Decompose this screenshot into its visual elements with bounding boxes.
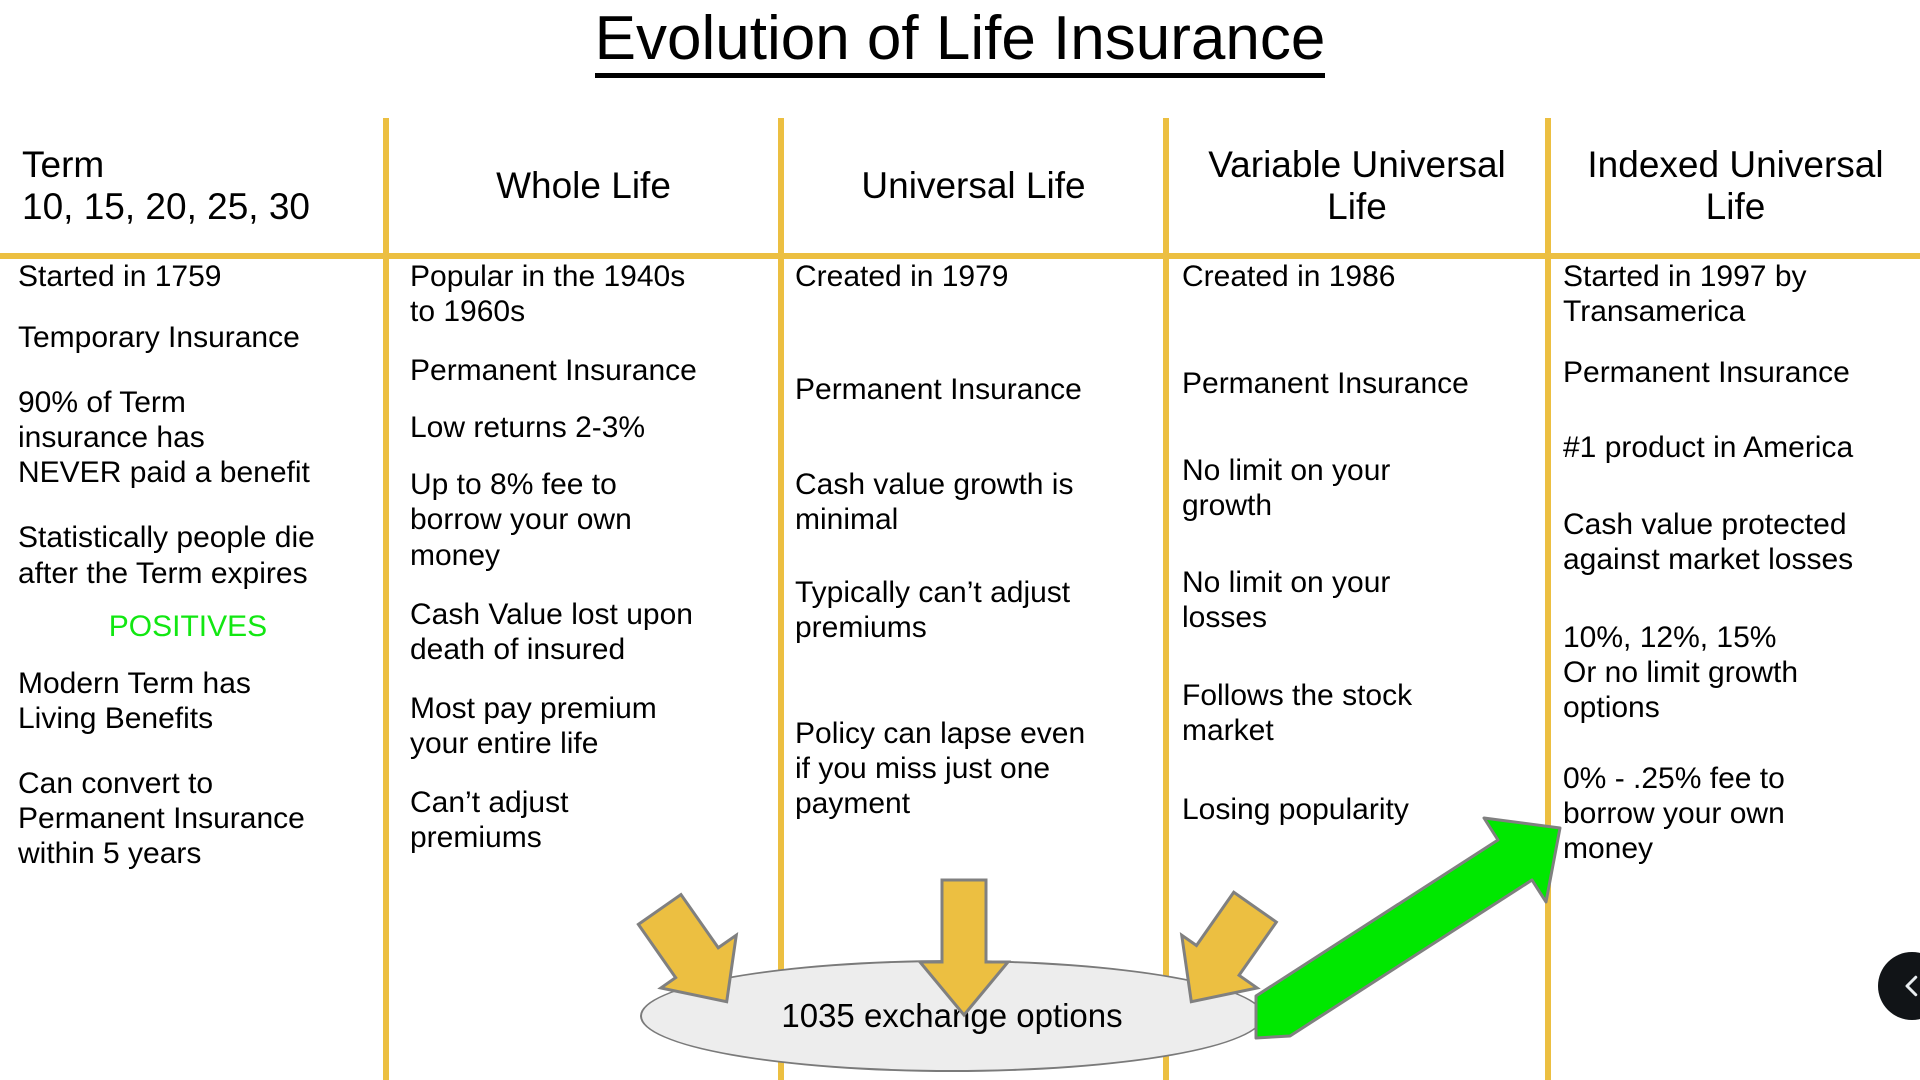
list-item: Statistically people die after the Term … (18, 520, 388, 590)
column-header-term: Term 10, 15, 20, 25, 30 (0, 118, 383, 253)
list-item: Created in 1986 (1182, 259, 1546, 294)
column-header-indexed-universal-life-label: Indexed Universal Life (1587, 144, 1883, 227)
column-header-variable-universal-life: Variable Universal Life (1169, 118, 1545, 253)
list-item: Temporary Insurance (18, 320, 388, 355)
positives-heading: POSITIVES (18, 609, 358, 644)
list-item: Cash Value lost upon death of insured (410, 597, 778, 667)
list-item: Cash value protected against market loss… (1563, 507, 1920, 577)
column-header-universal-life: Universal Life (784, 118, 1163, 253)
list-item: 10%, 12%, 15% Or no limit growth options (1563, 620, 1920, 725)
list-item: Follows the stock market (1182, 678, 1546, 748)
page-title-text: Evolution of Life Insurance (595, 6, 1326, 78)
list-item: Started in 1759 (18, 259, 388, 294)
list-item: Created in 1979 (795, 259, 1163, 294)
column-body-whole-life: Popular in the 1940s to 1960s Permanent … (410, 259, 778, 881)
chevron-left-icon (1897, 971, 1920, 1001)
list-item: Policy can lapse even if you miss just o… (795, 716, 1163, 821)
column-body-variable-universal-life: Created in 1986 Permanent Insurance No l… (1182, 259, 1546, 853)
list-item: #1 product in America (1563, 430, 1920, 465)
column-body-term: Started in 1759 Temporary Insurance 90% … (18, 259, 388, 897)
list-item: Permanent Insurance (410, 353, 778, 388)
list-item: 0% - .25% fee to borrow your own money (1563, 761, 1920, 866)
list-item: Permanent Insurance (795, 372, 1163, 407)
exchange-options-label: 1035 exchange options (781, 997, 1122, 1035)
page-title: Evolution of Life Insurance (0, 6, 1920, 78)
list-item: Permanent Insurance (1563, 355, 1920, 390)
column-header-whole-life-label: Whole Life (496, 165, 671, 206)
list-item: Up to 8% fee to borrow your own money (410, 467, 778, 572)
list-item: Most pay premium your entire life (410, 691, 778, 761)
list-item: Typically can’t adjust premiums (795, 575, 1163, 645)
column-header-variable-universal-life-label: Variable Universal Life (1208, 144, 1506, 227)
comparison-table: Term 10, 15, 20, 25, 30 Whole Life Unive… (0, 118, 1920, 1080)
list-item: Started in 1997 by Transamerica (1563, 259, 1920, 329)
list-item: No limit on your losses (1182, 565, 1546, 635)
list-item: Popular in the 1940s to 1960s (410, 259, 778, 329)
column-header-term-label: Term 10, 15, 20, 25, 30 (22, 144, 310, 227)
list-item: Can convert to Permanent Insurance withi… (18, 766, 388, 871)
list-item: Low returns 2-3% (410, 410, 778, 445)
column-header-indexed-universal-life: Indexed Universal Life (1551, 118, 1920, 253)
list-item: 90% of Term insurance has NEVER paid a b… (18, 385, 388, 490)
list-item: Can’t adjust premiums (410, 785, 778, 855)
column-body-indexed-universal-life: Started in 1997 by Transamerica Permanen… (1563, 259, 1920, 892)
list-item: Permanent Insurance (1182, 366, 1546, 401)
column-body-universal-life: Created in 1979 Permanent Insurance Cash… (795, 259, 1163, 847)
exchange-options-ellipse: 1035 exchange options (640, 960, 1264, 1072)
column-divider-2 (778, 118, 784, 1080)
list-item: Losing popularity (1182, 792, 1546, 827)
list-item: Modern Term has Living Benefits (18, 666, 388, 736)
list-item: No limit on your growth (1182, 453, 1546, 523)
column-divider-3 (1163, 118, 1169, 1080)
column-header-universal-life-label: Universal Life (861, 165, 1085, 206)
list-item: Cash value growth is minimal (795, 467, 1163, 537)
column-header-whole-life: Whole Life (389, 118, 778, 253)
